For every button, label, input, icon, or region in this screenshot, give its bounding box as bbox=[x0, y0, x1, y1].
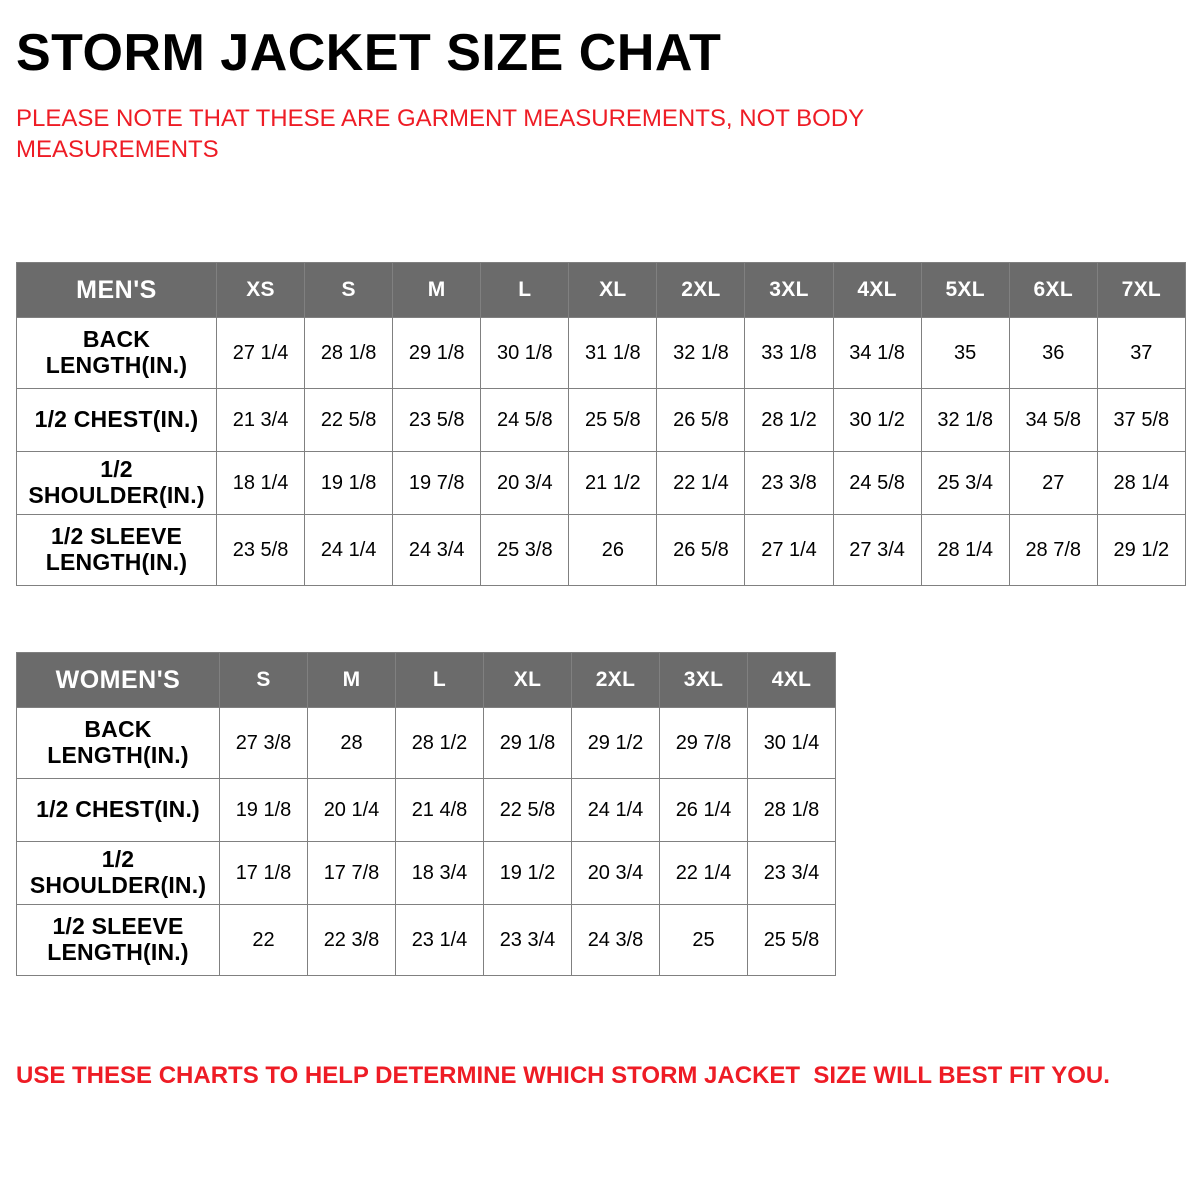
mens-header-size-3xl: 3XL bbox=[745, 263, 833, 318]
womens-cell-1-4: 24 1/4 bbox=[572, 779, 660, 842]
mens-cell-2-2: 19 7/8 bbox=[393, 452, 481, 515]
mens-header-size-xs: XS bbox=[217, 263, 305, 318]
mens-cell-1-9: 34 5/8 bbox=[1009, 389, 1097, 452]
mens-cell-1-5: 26 5/8 bbox=[657, 389, 745, 452]
womens-cell-2-1: 17 7/8 bbox=[308, 842, 396, 905]
mens-cell-0-10: 37 bbox=[1097, 318, 1185, 389]
mens-cell-3-10: 29 1/2 bbox=[1097, 515, 1185, 586]
womens-cell-3-5: 25 bbox=[660, 905, 748, 976]
mens-cell-1-3: 24 5/8 bbox=[481, 389, 569, 452]
womens-cell-2-5: 22 1/4 bbox=[660, 842, 748, 905]
mens-cell-2-6: 23 3/8 bbox=[745, 452, 833, 515]
mens-table-head: MEN'SXSSMLXL2XL3XL4XL5XL6XL7XL bbox=[17, 263, 1186, 318]
footer-guidance-note: USE THESE CHARTS TO HELP DETERMINE WHICH… bbox=[16, 1060, 1110, 1091]
womens-row-label-3: 1/2 SLEEVELENGTH(IN.) bbox=[17, 905, 220, 976]
mens-cell-1-6: 28 1/2 bbox=[745, 389, 833, 452]
mens-cell-3-1: 24 1/4 bbox=[305, 515, 393, 586]
mens-header-size-m: M bbox=[393, 263, 481, 318]
mens-cell-2-10: 28 1/4 bbox=[1097, 452, 1185, 515]
size-chart-page: STORM JACKET SIZE CHAT PLEASE NOTE THAT … bbox=[0, 0, 1200, 1200]
mens-cell-2-0: 18 1/4 bbox=[217, 452, 305, 515]
womens-cell-3-3: 23 3/4 bbox=[484, 905, 572, 976]
mens-row-label-1: 1/2 CHEST(IN.) bbox=[17, 389, 217, 452]
womens-header-size-s: S bbox=[220, 653, 308, 708]
womens-cell-0-5: 29 7/8 bbox=[660, 708, 748, 779]
mens-cell-0-8: 35 bbox=[921, 318, 1009, 389]
mens-cell-2-8: 25 3/4 bbox=[921, 452, 1009, 515]
womens-cell-3-2: 23 1/4 bbox=[396, 905, 484, 976]
mens-cell-3-8: 28 1/4 bbox=[921, 515, 1009, 586]
mens-cell-3-9: 28 7/8 bbox=[1009, 515, 1097, 586]
womens-header-size-4xl: 4XL bbox=[748, 653, 836, 708]
table-row: 1/2 SHOULDER(IN.)18 1/419 1/819 7/820 3/… bbox=[17, 452, 1186, 515]
mens-header-size-2xl: 2XL bbox=[657, 263, 745, 318]
womens-cell-2-6: 23 3/4 bbox=[748, 842, 836, 905]
womens-cell-1-2: 21 4/8 bbox=[396, 779, 484, 842]
mens-cell-1-2: 23 5/8 bbox=[393, 389, 481, 452]
mens-cell-0-6: 33 1/8 bbox=[745, 318, 833, 389]
mens-header-row: MEN'SXSSMLXL2XL3XL4XL5XL6XL7XL bbox=[17, 263, 1186, 318]
mens-header-size-xl: XL bbox=[569, 263, 657, 318]
mens-table-body: BACKLENGTH(IN.)27 1/428 1/829 1/830 1/83… bbox=[17, 318, 1186, 586]
mens-cell-2-3: 20 3/4 bbox=[481, 452, 569, 515]
mens-cell-1-4: 25 5/8 bbox=[569, 389, 657, 452]
womens-cell-3-0: 22 bbox=[220, 905, 308, 976]
womens-cell-1-3: 22 5/8 bbox=[484, 779, 572, 842]
mens-cell-0-5: 32 1/8 bbox=[657, 318, 745, 389]
mens-header-size-4xl: 4XL bbox=[833, 263, 921, 318]
table-row: 1/2 CHEST(IN.)21 3/422 5/823 5/824 5/825… bbox=[17, 389, 1186, 452]
mens-row-label-3: 1/2 SLEEVELENGTH(IN.) bbox=[17, 515, 217, 586]
womens-cell-0-2: 28 1/2 bbox=[396, 708, 484, 779]
mens-cell-1-1: 22 5/8 bbox=[305, 389, 393, 452]
mens-cell-3-6: 27 1/4 bbox=[745, 515, 833, 586]
womens-row-label-2: 1/2 SHOULDER(IN.) bbox=[17, 842, 220, 905]
mens-cell-3-3: 25 3/8 bbox=[481, 515, 569, 586]
mens-cell-0-7: 34 1/8 bbox=[833, 318, 921, 389]
table-row: 1/2 SHOULDER(IN.)17 1/817 7/818 3/419 1/… bbox=[17, 842, 836, 905]
womens-header-size-l: L bbox=[396, 653, 484, 708]
table-row: 1/2 CHEST(IN.)19 1/820 1/421 4/822 5/824… bbox=[17, 779, 836, 842]
womens-header-size-xl: XL bbox=[484, 653, 572, 708]
mens-cell-1-0: 21 3/4 bbox=[217, 389, 305, 452]
mens-header-size-7xl: 7XL bbox=[1097, 263, 1185, 318]
mens-cell-3-2: 24 3/4 bbox=[393, 515, 481, 586]
mens-cell-2-1: 19 1/8 bbox=[305, 452, 393, 515]
womens-cell-0-3: 29 1/8 bbox=[484, 708, 572, 779]
table-row: BACKLENGTH(IN.)27 1/428 1/829 1/830 1/83… bbox=[17, 318, 1186, 389]
mens-cell-2-7: 24 5/8 bbox=[833, 452, 921, 515]
womens-cell-3-1: 22 3/8 bbox=[308, 905, 396, 976]
mens-header-size-s: S bbox=[305, 263, 393, 318]
womens-cell-2-4: 20 3/4 bbox=[572, 842, 660, 905]
womens-header-size-3xl: 3XL bbox=[660, 653, 748, 708]
womens-cell-3-6: 25 5/8 bbox=[748, 905, 836, 976]
mens-header-size-5xl: 5XL bbox=[921, 263, 1009, 318]
womens-cell-2-0: 17 1/8 bbox=[220, 842, 308, 905]
mens-cell-0-1: 28 1/8 bbox=[305, 318, 393, 389]
mens-cell-0-9: 36 bbox=[1009, 318, 1097, 389]
womens-size-table: WOMEN'SSMLXL2XL3XL4XL BACKLENGTH(IN.)27 … bbox=[16, 652, 836, 976]
womens-cell-1-5: 26 1/4 bbox=[660, 779, 748, 842]
mens-cell-3-4: 26 bbox=[569, 515, 657, 586]
mens-size-table: MEN'SXSSMLXL2XL3XL4XL5XL6XL7XL BACKLENGT… bbox=[16, 262, 1186, 586]
mens-cell-2-4: 21 1/2 bbox=[569, 452, 657, 515]
mens-cell-0-4: 31 1/8 bbox=[569, 318, 657, 389]
mens-cell-0-2: 29 1/8 bbox=[393, 318, 481, 389]
womens-cell-2-2: 18 3/4 bbox=[396, 842, 484, 905]
mens-header-label: MEN'S bbox=[17, 263, 217, 318]
mens-cell-3-5: 26 5/8 bbox=[657, 515, 745, 586]
womens-row-label-0: BACKLENGTH(IN.) bbox=[17, 708, 220, 779]
mens-cell-0-3: 30 1/8 bbox=[481, 318, 569, 389]
mens-cell-0-0: 27 1/4 bbox=[217, 318, 305, 389]
mens-cell-1-10: 37 5/8 bbox=[1097, 389, 1185, 452]
mens-cell-3-0: 23 5/8 bbox=[217, 515, 305, 586]
garment-measurement-notice: PLEASE NOTE THAT THESE ARE GARMENT MEASU… bbox=[16, 81, 976, 166]
table-row: 1/2 SLEEVELENGTH(IN.)2222 3/823 1/423 3/… bbox=[17, 905, 836, 976]
mens-cell-1-8: 32 1/8 bbox=[921, 389, 1009, 452]
womens-row-label-1: 1/2 CHEST(IN.) bbox=[17, 779, 220, 842]
womens-cell-1-1: 20 1/4 bbox=[308, 779, 396, 842]
womens-cell-0-0: 27 3/8 bbox=[220, 708, 308, 779]
mens-cell-2-9: 27 bbox=[1009, 452, 1097, 515]
mens-row-label-2: 1/2 SHOULDER(IN.) bbox=[17, 452, 217, 515]
womens-cell-2-3: 19 1/2 bbox=[484, 842, 572, 905]
womens-header-size-m: M bbox=[308, 653, 396, 708]
mens-cell-2-5: 22 1/4 bbox=[657, 452, 745, 515]
table-row: 1/2 SLEEVELENGTH(IN.)23 5/824 1/424 3/42… bbox=[17, 515, 1186, 586]
womens-cell-0-6: 30 1/4 bbox=[748, 708, 836, 779]
mens-header-size-6xl: 6XL bbox=[1009, 263, 1097, 318]
page-title: STORM JACKET SIZE CHAT bbox=[16, 0, 1184, 81]
mens-header-size-l: L bbox=[481, 263, 569, 318]
womens-cell-3-4: 24 3/8 bbox=[572, 905, 660, 976]
womens-header-row: WOMEN'SSMLXL2XL3XL4XL bbox=[17, 653, 836, 708]
womens-table-head: WOMEN'SSMLXL2XL3XL4XL bbox=[17, 653, 836, 708]
mens-row-label-0: BACKLENGTH(IN.) bbox=[17, 318, 217, 389]
womens-header-label: WOMEN'S bbox=[17, 653, 220, 708]
womens-cell-1-6: 28 1/8 bbox=[748, 779, 836, 842]
table-row: BACKLENGTH(IN.)27 3/82828 1/229 1/829 1/… bbox=[17, 708, 836, 779]
womens-cell-0-1: 28 bbox=[308, 708, 396, 779]
womens-header-size-2xl: 2XL bbox=[572, 653, 660, 708]
womens-cell-1-0: 19 1/8 bbox=[220, 779, 308, 842]
mens-cell-1-7: 30 1/2 bbox=[833, 389, 921, 452]
mens-cell-3-7: 27 3/4 bbox=[833, 515, 921, 586]
womens-table-body: BACKLENGTH(IN.)27 3/82828 1/229 1/829 1/… bbox=[17, 708, 836, 976]
womens-cell-0-4: 29 1/2 bbox=[572, 708, 660, 779]
